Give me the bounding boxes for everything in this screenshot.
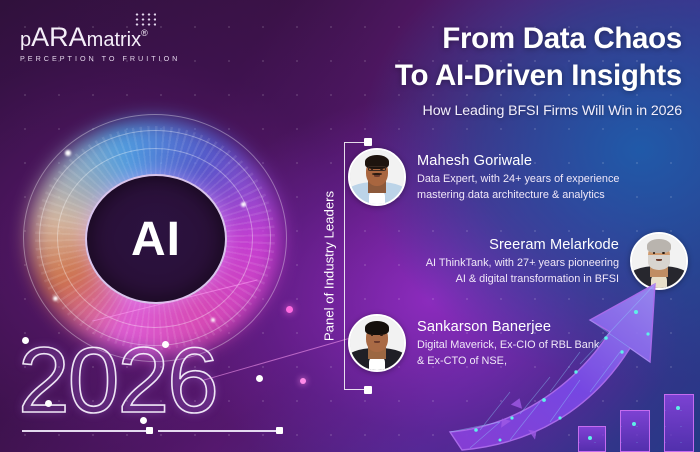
portrait-sankarson-banerjee [350,316,404,370]
ai-core-circle: AI [85,174,227,304]
year-node-marker [146,427,153,434]
chart-bar [664,394,694,452]
year-node-dot [140,417,147,424]
avatar [348,314,406,372]
year-node-dot [162,341,169,348]
logo-tagline: PERCEPTION TO FRUITION [20,54,220,63]
chart-node [632,422,636,426]
brand-logo[interactable]: pARAmatrix® PERCEPTION TO FRUITION [20,24,220,63]
year-2026: 2026 [18,334,217,427]
logo-word-ara: ARA [31,22,87,52]
headline-subtitle: How Leading BFSI Firms Will Win in 2026 [262,103,682,119]
ai-label: AI [131,212,181,267]
year-underline-left [22,430,147,432]
panel-label: Panel of Industry Leaders [322,191,337,341]
bar-chart-icon [576,382,696,452]
avatar [348,148,406,206]
headline-line-1: From Data Chaos [442,22,682,55]
logo-word-matrix: matrix [87,29,141,51]
year-underline-right [158,430,278,432]
year-node-marker [276,427,283,434]
ai-sphere-graphic: AI [5,110,305,360]
chart-bar [620,410,650,452]
registered-mark: ® [141,28,148,38]
speaker-desc-line-1: Data Expert, with 24+ years of experienc… [417,172,620,186]
portrait-mahesh-goriwale [350,150,404,204]
bracket-cap-bottom [364,386,372,394]
year-node-dot [256,375,263,382]
chart-bar [578,426,606,452]
speaker-desc-line-2: mastering data architecture & analytics [417,188,620,202]
logo-word-p: p [20,29,31,51]
year-node-dot [45,400,52,407]
chart-node [588,436,592,440]
speaker-card[interactable]: Mahesh Goriwale Data Expert, with 24+ ye… [348,148,688,206]
speaker-info: Mahesh Goriwale Data Expert, with 24+ ye… [417,152,620,203]
year-node-dot [22,337,29,344]
speaker-name: Mahesh Goriwale [417,152,620,170]
logo-wordmark: pARAmatrix® [20,24,220,51]
glow-node [286,306,293,313]
sphere-spark [241,202,246,207]
bracket-cap-top [364,138,372,146]
headline-line-2: To AI-Driven Insights [395,59,682,92]
glow-node [300,378,306,384]
panel-label-container: Panel of Industry Leaders [318,142,340,390]
sphere-spark [211,318,215,322]
page-title: From Data Chaos To AI-Driven Insights [262,20,682,94]
chart-node [676,406,680,410]
speaker-name: Sreeram Melarkode [426,236,619,254]
promotional-banner: AI 2026 pARAmatrix® PERCEPTION TO FRUITI… [0,0,700,452]
speaker-desc-line-1: AI ThinkTank, with 27+ years pioneering [426,256,619,270]
headline-block: From Data Chaos To AI-Driven Insights Ho… [262,20,682,119]
sphere-spark [65,150,71,156]
sphere-spark [53,296,58,301]
